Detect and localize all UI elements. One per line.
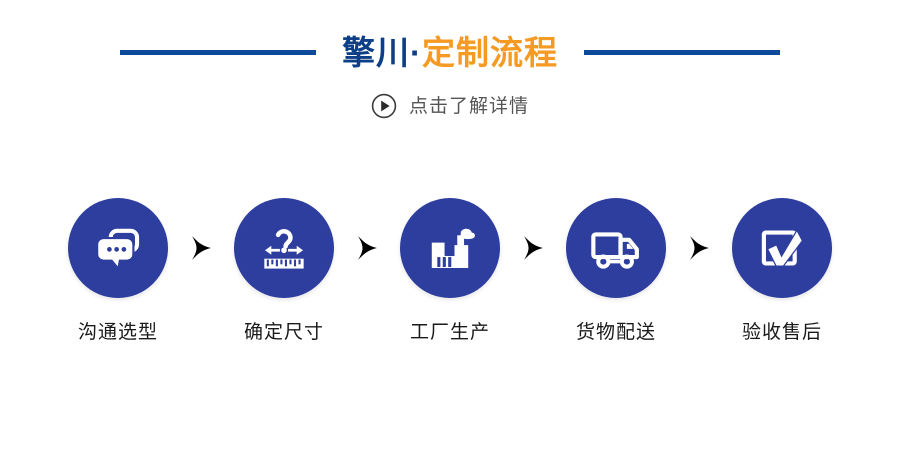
header-rule-right bbox=[584, 50, 780, 55]
page-title-accent: 定制流程 bbox=[422, 34, 558, 71]
step-separator bbox=[345, 198, 389, 298]
step-icon-circle[interactable] bbox=[68, 198, 168, 298]
step-item[interactable]: 货物配送 bbox=[555, 198, 677, 342]
checkbox-check-icon bbox=[753, 219, 811, 277]
arrow-right-icon bbox=[687, 235, 711, 261]
step-icon-circle[interactable] bbox=[732, 198, 832, 298]
arrow-right-icon bbox=[521, 235, 545, 261]
subtitle-row[interactable]: 点击了解详情 bbox=[0, 90, 900, 122]
ruler-measure-icon bbox=[255, 219, 313, 277]
step-label: 确定尺寸 bbox=[244, 323, 324, 342]
step-item[interactable]: 验收售后 bbox=[721, 198, 843, 342]
step-label: 工厂生产 bbox=[410, 323, 490, 342]
step-item[interactable]: 工厂生产 bbox=[389, 198, 511, 342]
arrow-right-icon bbox=[355, 235, 379, 261]
step-separator bbox=[511, 198, 555, 298]
page-title-primary: 擎川· bbox=[342, 34, 422, 71]
step-icon-circle[interactable] bbox=[234, 198, 334, 298]
step-item[interactable]: 确定尺寸 bbox=[223, 198, 345, 342]
page-title: 擎川·定制流程 bbox=[342, 36, 558, 69]
subtitle-text: 点击了解详情 bbox=[409, 97, 529, 116]
page-header: 擎川·定制流程 bbox=[0, 22, 900, 82]
step-icon-circle[interactable] bbox=[400, 198, 500, 298]
header-rule-left bbox=[120, 50, 316, 55]
factory-icon bbox=[421, 219, 479, 277]
step-label: 沟通选型 bbox=[78, 323, 158, 342]
delivery-truck-icon bbox=[587, 219, 645, 277]
step-label: 验收售后 bbox=[742, 323, 822, 342]
chat-bubbles-icon bbox=[89, 219, 147, 277]
step-separator bbox=[677, 198, 721, 298]
step-separator bbox=[179, 198, 223, 298]
step-label: 货物配送 bbox=[576, 323, 656, 342]
process-steps: 沟通选型 bbox=[0, 198, 900, 368]
step-icon-circle[interactable] bbox=[566, 198, 666, 298]
step-item[interactable]: 沟通选型 bbox=[57, 198, 179, 342]
arrow-right-icon bbox=[189, 235, 213, 261]
play-circle-icon[interactable] bbox=[371, 93, 397, 119]
